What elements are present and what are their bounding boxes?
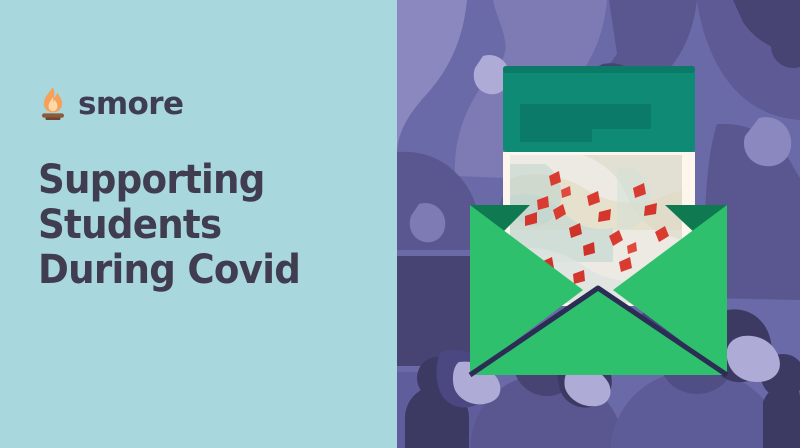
smore-newsletter-banner: smore Supporting Students During Covid bbox=[0, 0, 800, 448]
illustration-panel bbox=[397, 0, 800, 448]
page-title: Supporting Students During Covid bbox=[38, 158, 354, 292]
smore-wordmark: smore bbox=[78, 89, 183, 120]
smore-logo[interactable]: smore bbox=[38, 84, 183, 124]
campfire-flame-icon bbox=[38, 86, 68, 122]
open-envelope-illustration bbox=[397, 0, 800, 448]
left-content-panel: smore Supporting Students During Covid bbox=[0, 0, 397, 448]
